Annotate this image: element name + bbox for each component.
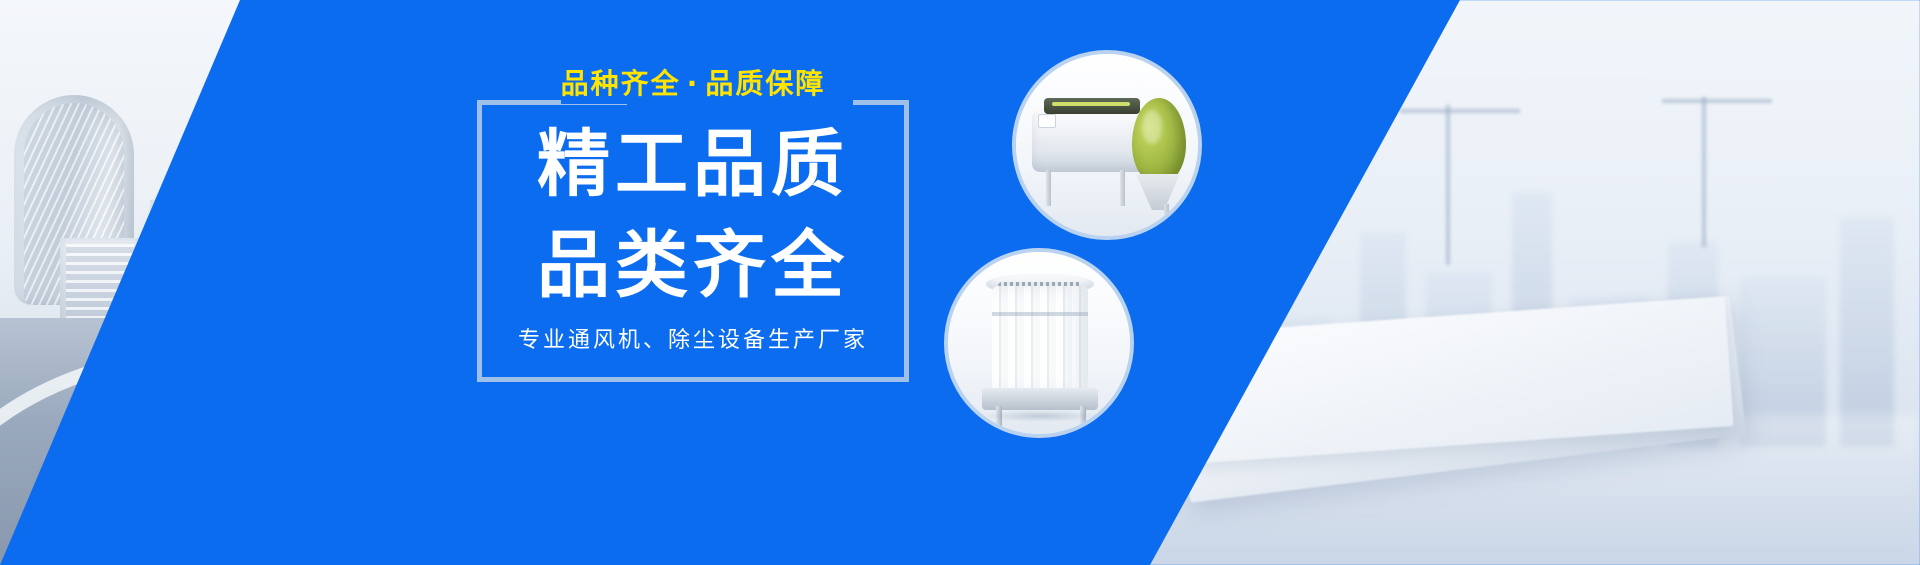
tower-body [992, 286, 1088, 394]
product-circle-cooling-tower [944, 248, 1134, 438]
green-separator-head [1132, 98, 1186, 184]
skyline-building [1840, 217, 1894, 447]
crane-mast [1446, 105, 1450, 265]
tagline-right: 品质保障 [705, 67, 825, 100]
headline-line-2: 品类齐全 [477, 227, 909, 306]
machine-top-rail [1044, 98, 1140, 114]
control-panel [1038, 114, 1056, 128]
headline-line-1: 精工品质 [477, 126, 909, 205]
banner-text-block: 品种齐全·品质保障 精工品质 品类齐全 专业通风机、除尘设备生产厂家 [477, 70, 909, 352]
tower-shadow [982, 410, 1100, 422]
promo-banner: 品种齐全·品质保障 精工品质 品类齐全 专业通风机、除尘设备生产厂家 [0, 0, 1920, 565]
tagline-separator: · [681, 67, 706, 100]
machine-leg [1120, 170, 1125, 206]
machine-leg [1164, 204, 1169, 230]
tagline: 品种齐全·品质保障 [561, 70, 826, 104]
machine-leg [1046, 170, 1051, 206]
subtitle: 专业通风机、除尘设备生产厂家 [477, 330, 909, 352]
crane-jib [1400, 109, 1520, 113]
tagline-left: 品种齐全 [561, 67, 681, 100]
product-circle-separator-machine [1012, 50, 1202, 240]
crane-mast [1702, 97, 1706, 247]
crane-jib [1662, 99, 1772, 103]
tower-band [992, 312, 1088, 316]
